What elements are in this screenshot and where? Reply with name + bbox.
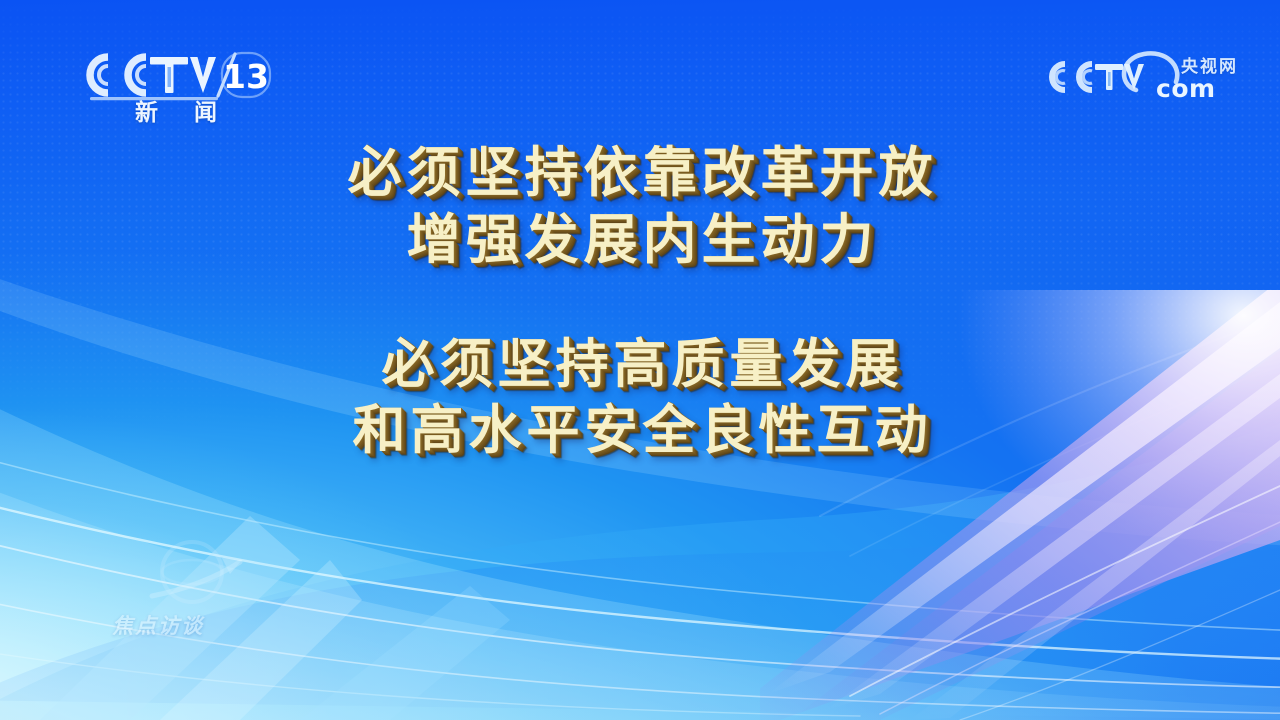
program-logo-icon xyxy=(136,538,256,620)
svg-text:13: 13 xyxy=(223,57,269,96)
cctv-13-logo: 13 新 闻 xyxy=(72,47,272,137)
svg-text:com: com xyxy=(1156,74,1216,103)
headline-block-2: 必须坚持高质量发展 和高水平安全良性互动 xyxy=(0,332,1280,463)
headline-line: 必须坚持依靠改革开放 xyxy=(0,140,1280,207)
headline-line: 增强发展内生动力 xyxy=(0,207,1280,274)
program-name-label: 焦点访谈 xyxy=(112,610,292,640)
headline-block-1: 必须坚持依靠改革开放 增强发展内生动力 xyxy=(0,140,1280,274)
headline-line: 和高水平安全良性互动 xyxy=(0,398,1280,464)
cctv-13-channel-name: 新 闻 xyxy=(106,93,246,127)
program-watermark: 焦点访谈 xyxy=(112,538,292,648)
headline-line: 必须坚持高质量发展 xyxy=(0,332,1280,398)
headline-area: 必须坚持依靠改革开放 增强发展内生动力 必须坚持高质量发展 和高水平安全良性互动 xyxy=(0,140,1280,463)
broadcast-screen: 13 新 闻 xyxy=(0,0,1280,720)
cctv-com-logo: com 央视网 xyxy=(1040,44,1240,106)
cctv-com-chinese-label: 央视网 xyxy=(1181,52,1238,77)
